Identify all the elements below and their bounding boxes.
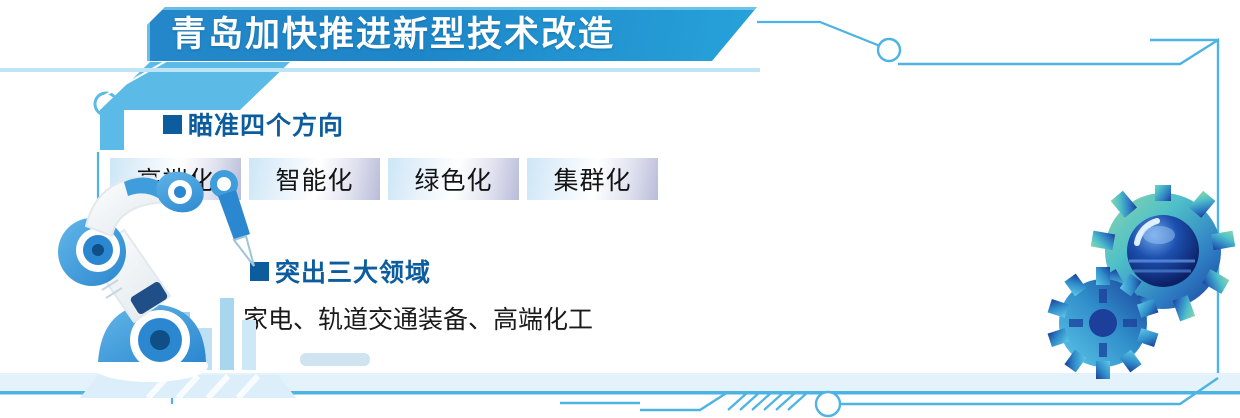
direction-tag: 绿色化 xyxy=(388,158,519,200)
section-heading-fields: 突出三大领域 xyxy=(250,253,431,289)
direction-tag: 智能化 xyxy=(249,158,380,200)
direction-tag: 集群化 xyxy=(527,158,658,200)
square-bullet-icon xyxy=(163,115,182,134)
section-heading-directions: 瞄准四个方向 xyxy=(163,106,344,142)
poster-title-banner: 青岛加快推进新型技术改造 xyxy=(147,7,757,61)
direction-tag: 高端化 xyxy=(110,158,241,200)
fields-body-text: 家电、轨道交通装备、高端化工 xyxy=(243,300,593,336)
right-column: 发力三个维度 以龙头企业、链主企业为带动 点上突破 线上贯通 面上铺开 xyxy=(700,88,1240,388)
page-title: 青岛加快推进新型技术改造 xyxy=(171,17,615,52)
left-column: 瞄准四个方向 高端化 智能化 绿色化 集群化 突出三大领域 家电、轨道交通装备、… xyxy=(0,88,700,388)
infographic-poster: 青岛加快推进新型技术改造 瞄准四个方向 高端化 智能化 绿色化 集群化 突出三大… xyxy=(0,0,1240,418)
section-heading-fields-label: 突出三大领域 xyxy=(275,253,431,289)
square-bullet-icon xyxy=(250,262,269,281)
section-heading-directions-label: 瞄准四个方向 xyxy=(188,106,344,142)
direction-tag-list: 高端化 智能化 绿色化 集群化 xyxy=(110,158,658,200)
